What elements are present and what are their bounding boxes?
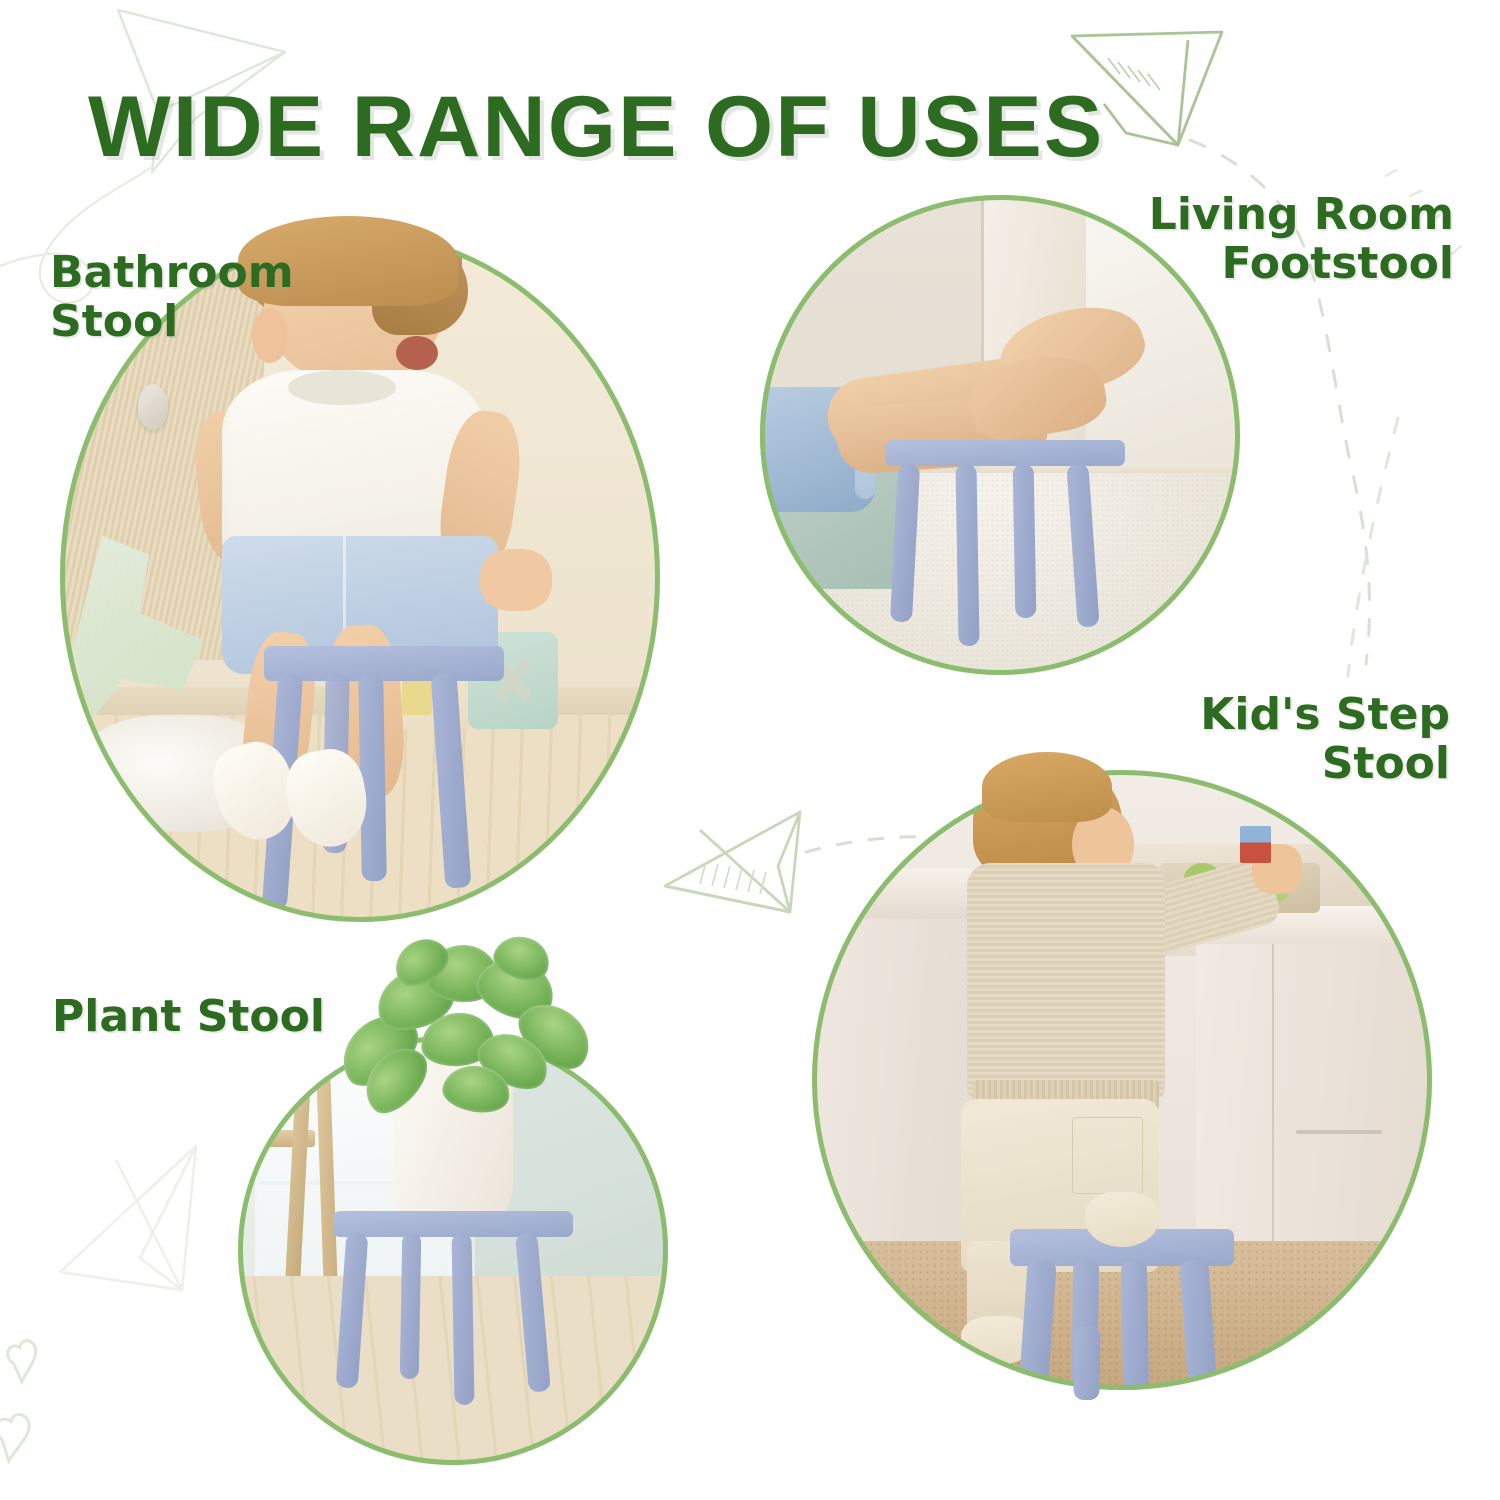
stool-seat	[885, 440, 1125, 466]
photo-kids-step-stool	[812, 770, 1432, 1390]
page-title: WIDE RANGE OF USES	[88, 78, 1104, 177]
stool-seat	[333, 1211, 574, 1237]
photo-plant-stool	[238, 1035, 668, 1465]
stool-leg-overflow	[1073, 1326, 1100, 1400]
scene-kitchen	[812, 770, 1432, 1390]
stool-seat	[264, 646, 504, 681]
caption-kids-step-stool: Kid's Step Stool	[1200, 690, 1450, 789]
paper-plane-icon	[60, 1146, 196, 1290]
heart-icon	[0, 1338, 46, 1462]
wall-hook	[138, 384, 168, 430]
photo-clip	[812, 770, 1432, 1390]
toy-block	[1240, 826, 1271, 863]
knit-sweater	[967, 863, 1165, 1099]
dashed-trail	[1348, 418, 1398, 676]
kitchen-cabinet-right	[1196, 944, 1432, 1266]
caption-plant-stool: Plant Stool	[52, 992, 325, 1041]
paper-plane-icon	[665, 812, 800, 912]
plane-wing-hatch	[1108, 58, 1160, 90]
hair-overflow	[982, 752, 1112, 822]
cabinet-handle	[1296, 1130, 1383, 1134]
plane-wing-hatch	[700, 862, 766, 894]
infographic-canvas: WIDE RANGE OF USES Bathroom Stool Living…	[0, 0, 1500, 1500]
plant-foliage	[320, 937, 600, 1127]
caption-bathroom-stool: Bathroom Stool	[50, 248, 294, 347]
caption-living-room-footstool: Living Room Footstool	[1149, 190, 1454, 289]
